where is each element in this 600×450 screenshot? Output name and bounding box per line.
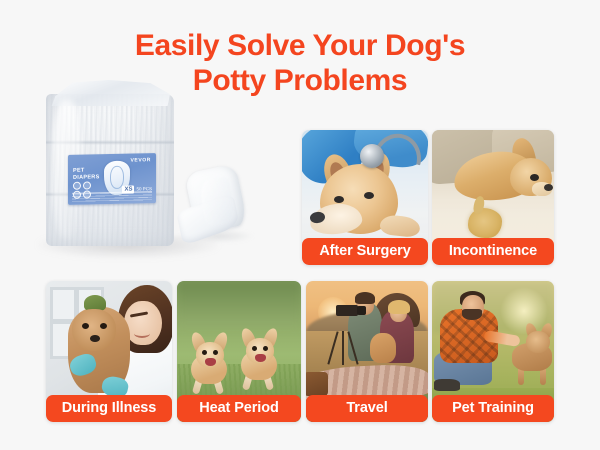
dog-mouth [255, 354, 266, 362]
product-name: PET DIAPERS [73, 167, 107, 182]
tile-caption-travel: Travel [306, 395, 428, 422]
use-case-tile-after-surgery: After Surgery [302, 130, 428, 265]
man-beard [462, 309, 482, 320]
dog-eye [530, 174, 539, 181]
background-blur [177, 281, 301, 327]
diaper-package: VEVOR PET DIAPERS XS 50 PCS [46, 80, 174, 248]
tripod-leg [327, 331, 339, 364]
label-fine-print [72, 192, 152, 203]
man-shoe [434, 379, 460, 391]
use-case-tile-heat-period: Heat Period [177, 281, 301, 422]
use-case-tile-travel: Travel [306, 281, 428, 422]
urine-stain [468, 208, 502, 238]
woman-hair [388, 300, 410, 314]
brand-name: VEVOR [130, 157, 151, 163]
travel-bag [306, 372, 328, 396]
tile-caption-incontinence: Incontinence [432, 238, 554, 265]
package-label: VEVOR PET DIAPERS XS 50 PCS [68, 153, 156, 205]
loose-diaper [176, 162, 268, 250]
use-case-tile-during-illness: During Illness [46, 281, 172, 422]
sun-glow [500, 287, 548, 335]
dog-eye [334, 196, 344, 203]
tile-caption-heat-period: Heat Period [177, 395, 301, 422]
tripod-leg [342, 331, 344, 365]
feature-icon [73, 182, 81, 190]
feature-icon [83, 181, 91, 189]
tile-caption-during-illness: During Illness [46, 395, 172, 422]
product-image: VEVOR PET DIAPERS XS 50 PCS [28, 78, 278, 268]
dog-nose [544, 184, 553, 191]
use-case-tile-incontinence: Incontinence [432, 130, 554, 265]
woman-smile [134, 329, 150, 338]
tripod-icon [328, 321, 358, 365]
dog-running [189, 334, 231, 392]
loose-diaper-fold [199, 176, 235, 226]
dog-mouth [205, 358, 216, 366]
dog-eye [263, 346, 268, 351]
dog-running [239, 330, 281, 388]
stethoscope-icon [360, 144, 384, 168]
man-hair [355, 292, 375, 304]
tripod-leg [347, 331, 359, 364]
tile-caption-pet-training: Pet Training [432, 395, 554, 422]
page-title-line-1: Easily Solve Your Dog's [0, 28, 600, 63]
dog-eye [202, 350, 207, 355]
dog-nose [90, 335, 100, 342]
tile-caption-after-surgery: After Surgery [302, 238, 428, 265]
dog-eye [213, 350, 218, 355]
dog-eye [100, 323, 107, 329]
dog-body [370, 333, 396, 363]
dog-eye [82, 323, 89, 329]
dog-head [526, 331, 550, 353]
dog-eye [252, 346, 257, 351]
use-case-tile-pet-training: Pet Training [432, 281, 554, 422]
dog-face [72, 309, 116, 351]
camera-icon [336, 305, 358, 316]
dog-eye [364, 192, 374, 199]
